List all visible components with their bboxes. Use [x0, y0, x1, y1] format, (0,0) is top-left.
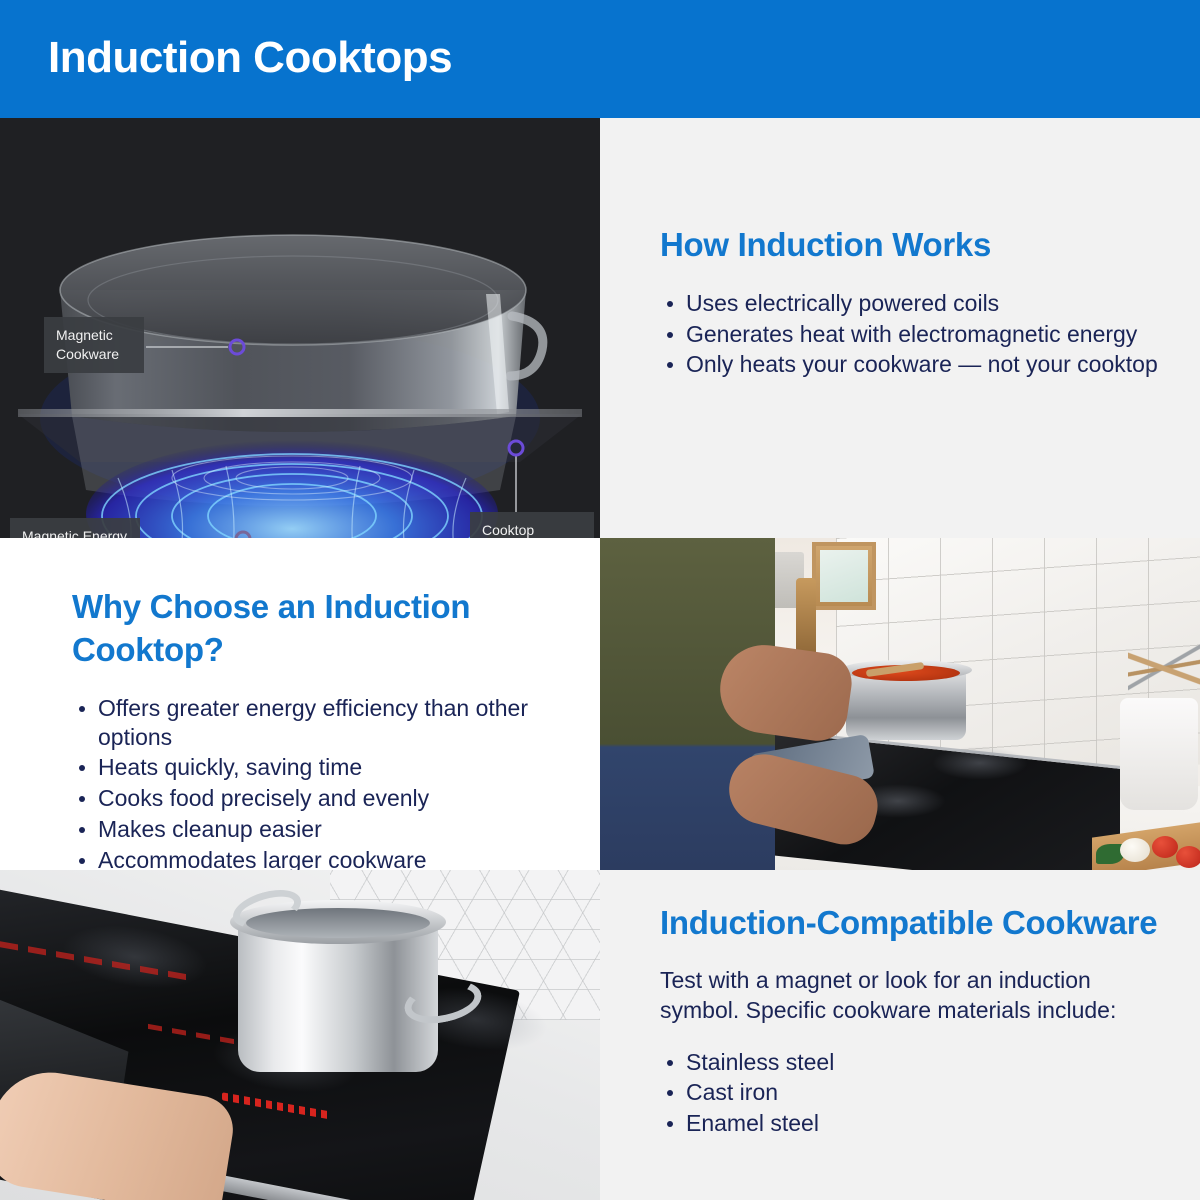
utensil-crock [1120, 698, 1198, 810]
kitchen-utensils [1128, 634, 1200, 704]
diagram-label-magnetic-cookware: Magnetic Cookware [44, 317, 144, 373]
list-item: Only heats your cookware — not your cook… [660, 350, 1160, 379]
tomato [1152, 836, 1178, 858]
list-item: Makes cleanup easier [72, 815, 572, 844]
cookware-intro-text: Test with a magnet or look for an induct… [660, 965, 1170, 1026]
why-choose-panel: Why Choose an Induction Cooktop? Offers … [0, 538, 600, 870]
picture-frame [812, 542, 876, 610]
induction-diagram-panel: Magnetic Cookware Magnetic Energy Direct… [0, 118, 600, 538]
burner-zone [932, 746, 1028, 780]
list-item: Enamel steel [660, 1109, 1170, 1138]
how-induction-works-heading: How Induction Works [660, 224, 1160, 267]
infographic-page: Induction Cooktops [0, 0, 1200, 1200]
list-item: Cooks food precisely and evenly [72, 784, 572, 813]
list-item: Generates heat with electromagnetic ener… [660, 320, 1160, 349]
page-header: Induction Cooktops [0, 0, 1200, 118]
list-item: Heats quickly, saving time [72, 753, 572, 782]
how-induction-works-list: Uses electrically powered coils Generate… [660, 289, 1160, 379]
list-item: Uses electrically powered coils [660, 289, 1160, 318]
why-choose-list: Offers greater energy efficiency than ot… [72, 694, 572, 870]
list-item: Accommodates larger cookware [72, 846, 572, 870]
how-induction-works-panel: How Induction Works Uses electrically po… [600, 118, 1200, 538]
page-title: Induction Cooktops [48, 33, 452, 83]
list-item: Offers greater energy efficiency than ot… [72, 694, 572, 752]
kitchen-scene-illustration [600, 538, 1200, 870]
cookware-heading: Induction-Compatible Cookware [660, 902, 1170, 945]
onion [1120, 838, 1150, 862]
diagram-label-cooktop-surface: Cooktop Surface Stays Cooler [470, 512, 594, 538]
list-item: Cast iron [660, 1078, 1170, 1107]
cookware-materials-list: Stainless steel Cast iron Enamel steel [660, 1048, 1170, 1138]
tomato [1176, 846, 1200, 868]
diagram-label-magnetic-energy: Magnetic Energy Directly Heats Cookware [10, 518, 140, 538]
list-item: Stainless steel [660, 1048, 1170, 1077]
cooktop-closeup-illustration [0, 870, 600, 1200]
induction-compatible-cookware-panel: Induction-Compatible Cookware Test with … [600, 870, 1200, 1200]
why-choose-heading: Why Choose an Induction Cooktop? [72, 586, 572, 672]
cooktop-closeup-photo [0, 870, 600, 1200]
kitchen-scene-photo [600, 538, 1200, 870]
